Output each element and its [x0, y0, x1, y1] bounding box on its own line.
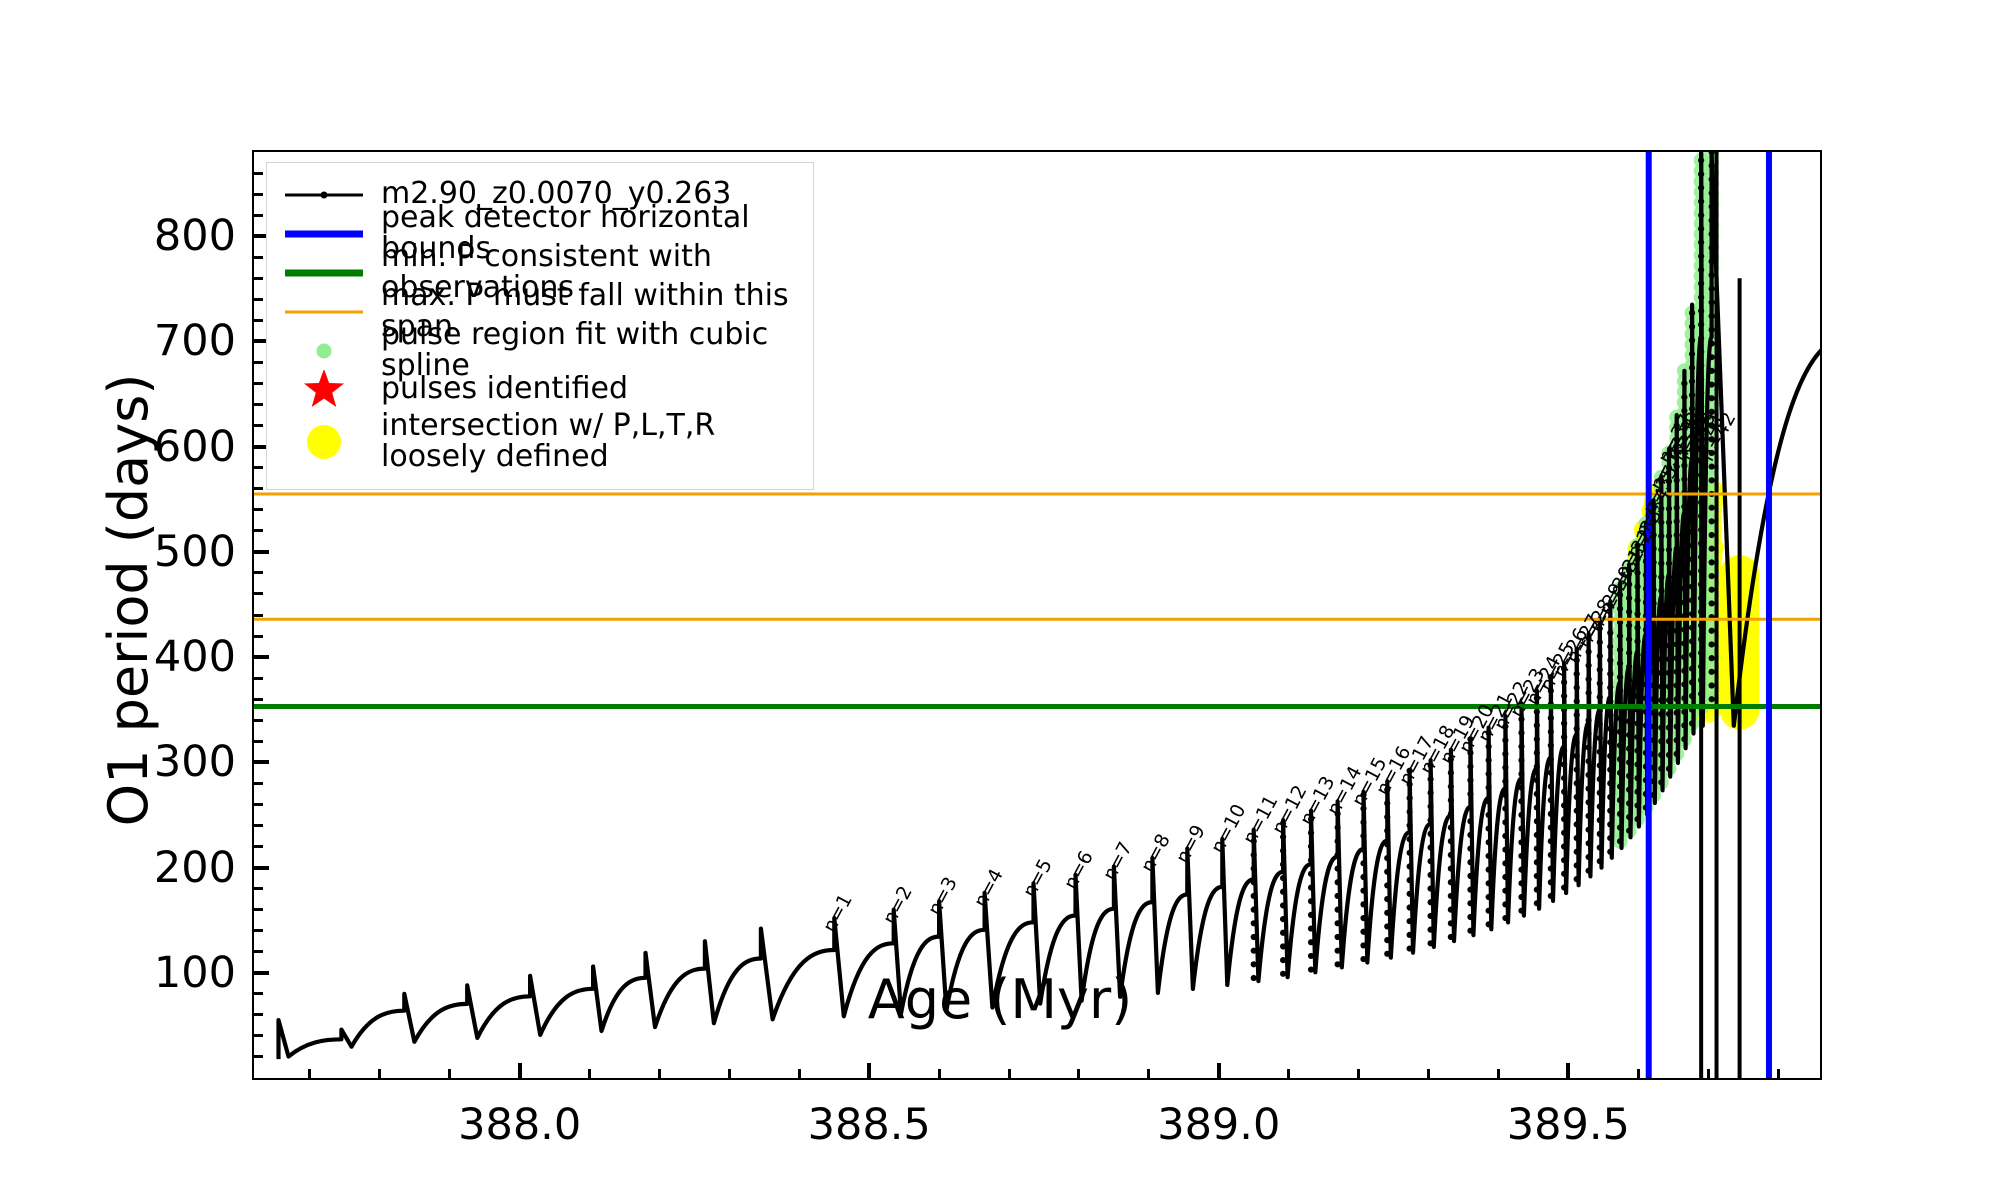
track-point [1607, 808, 1613, 814]
track-point [1534, 791, 1540, 797]
track-point [1709, 354, 1715, 360]
y-tick-label: 500 [154, 527, 236, 577]
track-point [1335, 865, 1341, 871]
y-tick-mark-minor [254, 1034, 263, 1037]
legend-item-label: intersection w/ P,L,T,R loosely defined [381, 411, 715, 473]
track-point [1689, 693, 1695, 699]
track-point [1681, 504, 1687, 510]
track-point [1689, 392, 1695, 398]
track-point [1674, 628, 1680, 634]
x-tick-label: 389.0 [1157, 1100, 1280, 1150]
track-point [1574, 671, 1580, 677]
x-tick-mark-minor [1637, 1069, 1640, 1078]
track-point [1681, 545, 1687, 551]
x-tick-mark-minor [728, 1069, 731, 1078]
track-point [1666, 519, 1672, 525]
y-tick-mark-minor [254, 592, 263, 595]
track-point [1607, 849, 1613, 855]
track-point [1709, 395, 1715, 401]
track-point [1548, 729, 1554, 735]
track-point [1502, 833, 1508, 839]
track-point [1626, 636, 1632, 642]
track-point [1597, 803, 1603, 809]
track-point [1502, 915, 1508, 921]
track-point [1626, 773, 1632, 779]
track-point [1448, 865, 1454, 871]
track-point [1360, 874, 1366, 880]
track-point [1709, 532, 1715, 538]
track-point [1518, 743, 1524, 749]
track-point [1617, 633, 1623, 639]
track-point [1360, 888, 1366, 894]
track-point [1280, 875, 1286, 881]
track-point [1689, 570, 1695, 576]
track-point [1607, 712, 1613, 718]
y-tick-mark-minor [254, 782, 263, 785]
track-point [1518, 894, 1524, 900]
track-point [1658, 752, 1664, 758]
chart-legend: m2.90_z0.0070_y0.263peak detector horizo… [266, 162, 814, 490]
track-point [1634, 802, 1640, 808]
track-point [1674, 737, 1680, 743]
track-point [1335, 838, 1341, 844]
track-point [1467, 887, 1473, 893]
track-point [1486, 757, 1492, 763]
track-point [1502, 806, 1508, 812]
track-point [1681, 599, 1687, 605]
track-point [1666, 697, 1672, 703]
track-point [1607, 671, 1613, 677]
track-point [1486, 908, 1492, 914]
track-point [1689, 611, 1695, 617]
track-point [1427, 790, 1433, 796]
track-point [1689, 638, 1695, 644]
track-point [1634, 748, 1640, 754]
y-tick-mark-minor [254, 908, 263, 911]
y-tick-mark-minor [254, 698, 263, 701]
y-tick-mark-minor [254, 614, 263, 617]
figure-canvas: 100200300400500600700800 388.0388.5389.0… [0, 0, 2000, 1200]
track-point [1251, 879, 1257, 885]
track-point [1518, 839, 1524, 845]
track-point [1360, 847, 1366, 853]
track-point [1486, 839, 1492, 845]
y-tick-mark-minor [254, 740, 263, 743]
track-point [1280, 916, 1286, 922]
track-point [1666, 752, 1672, 758]
y-tick-mark-minor [254, 487, 263, 490]
x-tick-mark [1566, 1063, 1570, 1078]
track-point [1486, 853, 1492, 859]
track-point [1681, 709, 1687, 715]
track-point [1617, 647, 1623, 653]
track-point [1666, 629, 1672, 635]
track-point [1427, 858, 1433, 864]
track-point [1448, 824, 1454, 830]
y-tick-mark-minor [254, 361, 263, 364]
track-point [1674, 587, 1680, 593]
track-point [1335, 961, 1341, 967]
track-point [1585, 813, 1591, 819]
x-tick-mark-minor [1497, 1069, 1500, 1078]
track-point [1502, 764, 1508, 770]
y-tick-mark-minor [254, 845, 263, 848]
track-point [1574, 726, 1580, 732]
track-point [1626, 663, 1632, 669]
legend-key-dot-icon [281, 331, 367, 370]
track-point [1534, 777, 1540, 783]
track-point [1561, 802, 1567, 808]
y-tick-mark-minor [254, 929, 263, 932]
track-point [1626, 677, 1632, 683]
x-tick-mark-minor [1427, 1069, 1430, 1078]
track-point [1502, 874, 1508, 880]
track-point [1709, 258, 1715, 264]
track-point [1280, 902, 1286, 908]
track-point [1308, 925, 1314, 931]
y-tick-mark-minor [254, 635, 263, 638]
y-tick-mark [254, 655, 269, 659]
track-point [1607, 726, 1613, 732]
track-point [1597, 667, 1603, 673]
track-point [1681, 627, 1687, 633]
track-point [1574, 876, 1580, 882]
track-point [1681, 476, 1687, 482]
track-point [1681, 572, 1687, 578]
track-point [1467, 818, 1473, 824]
track-point [1518, 853, 1524, 859]
track-point [1384, 869, 1390, 875]
track-point [1626, 718, 1632, 724]
track-point [1548, 865, 1554, 871]
track-point [1360, 901, 1366, 907]
track-point [1709, 176, 1715, 182]
track-point [1561, 761, 1567, 767]
track-point [1689, 310, 1695, 316]
track-point [1448, 934, 1454, 940]
track-point [1626, 800, 1632, 806]
track-point [1467, 777, 1473, 783]
track-point [1467, 928, 1473, 934]
track-point [1607, 780, 1613, 786]
x-tick-mark-minor [1008, 1069, 1011, 1078]
track-point [1407, 932, 1413, 938]
track-point [1666, 670, 1672, 676]
track-point [1607, 753, 1613, 759]
track-point [1634, 652, 1640, 658]
track-point [1597, 831, 1603, 837]
track-point [1335, 879, 1341, 885]
y-tick-mark-minor [254, 256, 263, 259]
y-tick-mark-minor [254, 719, 263, 722]
track-point [1518, 880, 1524, 886]
track-point [1626, 787, 1632, 793]
track-point [1585, 676, 1591, 682]
star-shape [304, 370, 344, 407]
y-tick-label: 700 [154, 316, 236, 366]
track-point [1407, 822, 1413, 828]
track-point [1658, 670, 1664, 676]
track-point [1626, 691, 1632, 697]
legend-item: intersection w/ P,L,T,R loosely defined [281, 409, 795, 475]
track-point [1709, 682, 1715, 688]
track-point [1607, 685, 1613, 691]
track-point [1666, 601, 1672, 607]
track-point [1486, 894, 1492, 900]
track-point [1534, 859, 1540, 865]
track-point [1486, 771, 1492, 777]
track-point [1518, 908, 1524, 914]
track-point [1427, 844, 1433, 850]
y-tick-mark-minor [254, 298, 263, 301]
track-point [1597, 721, 1603, 727]
track-point [1626, 650, 1632, 656]
track-point [1658, 697, 1664, 703]
track-point [1561, 843, 1567, 849]
track-point [1280, 943, 1286, 949]
track-point [1674, 641, 1680, 647]
track-point [1384, 814, 1390, 820]
track-point [1658, 588, 1664, 594]
track-point [1607, 835, 1613, 841]
track-point [1674, 696, 1680, 702]
track-point [1574, 739, 1580, 745]
track-point [1467, 873, 1473, 879]
y-tick-label: 800 [154, 211, 236, 261]
track-point [1534, 873, 1540, 879]
track-point [1634, 583, 1640, 589]
track-point [1689, 720, 1695, 726]
x-tick-mark-minor [378, 1069, 381, 1078]
track-point [1534, 750, 1540, 756]
track-point [1585, 717, 1591, 723]
track-point [1658, 766, 1664, 772]
track-point [1681, 668, 1687, 674]
track-point [1502, 792, 1508, 798]
track-point [1574, 753, 1580, 759]
track-point [1607, 821, 1613, 827]
track-point [1548, 811, 1554, 817]
track-point [1502, 778, 1508, 784]
x-tick-mark [518, 1063, 522, 1078]
track-point [1689, 652, 1695, 658]
track-point [1709, 340, 1715, 346]
track-point [1561, 775, 1567, 781]
x-tick-mark-minor [1707, 1069, 1710, 1078]
track-point [1384, 937, 1390, 943]
y-tick-mark-minor [254, 571, 263, 574]
track-point [1448, 838, 1454, 844]
track-point [1486, 812, 1492, 818]
track-point [1548, 770, 1554, 776]
y-tick-mark-minor [254, 950, 263, 953]
track-point [1626, 746, 1632, 752]
track-point [1335, 948, 1341, 954]
track-point [1597, 653, 1603, 659]
track-point [1448, 852, 1454, 858]
track-point [1626, 732, 1632, 738]
track-point [1674, 682, 1680, 688]
track-point [1585, 868, 1591, 874]
track-point [1486, 921, 1492, 927]
track-point [1561, 884, 1567, 890]
track-point [1502, 860, 1508, 866]
track-point [1617, 783, 1623, 789]
y-tick-mark-minor [254, 824, 263, 827]
y-tick-mark-minor [254, 508, 263, 511]
track-point [1574, 780, 1580, 786]
track-point [1689, 542, 1695, 548]
track-point [1427, 899, 1433, 905]
track-point [1709, 231, 1715, 237]
x-tick-mark [1217, 1063, 1221, 1078]
track-point [1467, 804, 1473, 810]
x-tick-mark-minor [938, 1069, 941, 1078]
y-tick-mark-minor [254, 529, 263, 532]
track-point [1384, 896, 1390, 902]
track-point [1607, 630, 1613, 636]
track-point [1448, 893, 1454, 899]
track-point [1666, 642, 1672, 648]
track-point [1407, 945, 1413, 951]
track-point [1607, 794, 1613, 800]
track-point [1335, 852, 1341, 858]
track-point [1689, 474, 1695, 480]
track-point [1448, 811, 1454, 817]
track-point [1427, 927, 1433, 933]
track-point [1674, 518, 1680, 524]
track-point [1634, 734, 1640, 740]
track-point [1626, 622, 1632, 628]
track-point [1709, 327, 1715, 333]
track-point [1251, 934, 1257, 940]
y-tick-mark-minor [254, 193, 263, 196]
track-point [1709, 518, 1715, 524]
legend-line-icon [285, 230, 363, 237]
track-point [1574, 862, 1580, 868]
track-point [1681, 681, 1687, 687]
x-axis-label: Age (Myr) [0, 968, 2000, 1031]
track-point [1534, 832, 1540, 838]
track-point [1674, 532, 1680, 538]
track-point [1548, 783, 1554, 789]
track-point [1467, 832, 1473, 838]
track-point [1448, 797, 1454, 803]
track-point [1634, 775, 1640, 781]
track-point [1709, 204, 1715, 210]
track-point [1561, 871, 1567, 877]
track-point [1709, 299, 1715, 305]
track-point [1597, 858, 1603, 864]
track-point [1518, 812, 1524, 818]
track-point [1658, 724, 1664, 730]
track-point [1585, 827, 1591, 833]
y-tick-mark-minor [254, 466, 263, 469]
track-point [1467, 859, 1473, 865]
track-point [1689, 666, 1695, 672]
track-point [1561, 816, 1567, 822]
track-point [1674, 751, 1680, 757]
track-point [1597, 735, 1603, 741]
track-point [1681, 380, 1687, 386]
track-point [1689, 337, 1695, 343]
track-point [1597, 694, 1603, 700]
track-point [1681, 531, 1687, 537]
track-point [1448, 879, 1454, 885]
legend-key-star-icon [281, 370, 367, 409]
track-point [1561, 857, 1567, 863]
track-point [1561, 720, 1567, 726]
track-point [1534, 818, 1540, 824]
x-tick-mark-minor [308, 1069, 311, 1078]
track-point [1709, 381, 1715, 387]
track-point [1681, 394, 1687, 400]
track-point [1674, 559, 1680, 565]
track-point [1280, 889, 1286, 895]
track-point [1709, 313, 1715, 319]
track-point [1486, 826, 1492, 832]
track-point [1666, 533, 1672, 539]
track-point [1384, 800, 1390, 806]
track-point [1634, 597, 1640, 603]
track-point [1681, 586, 1687, 592]
track-point [1597, 749, 1603, 755]
track-point [1427, 913, 1433, 919]
track-point [1486, 880, 1492, 886]
track-point [1674, 546, 1680, 552]
track-point [1617, 756, 1623, 762]
track-point [1666, 588, 1672, 594]
track-point [1709, 559, 1715, 565]
track-point [1709, 573, 1715, 579]
y-tick-mark-minor [254, 277, 263, 280]
track-point [1658, 642, 1664, 648]
x-tick-mark-minor [448, 1069, 451, 1078]
track-point [1534, 804, 1540, 810]
track-point [1502, 819, 1508, 825]
track-point [1689, 529, 1695, 535]
legend-key-line-thin-icon [281, 292, 367, 331]
track-point [1308, 898, 1314, 904]
track-point [1626, 759, 1632, 765]
track-point [1467, 791, 1473, 797]
y-tick-label: 200 [154, 843, 236, 893]
track-point [1407, 863, 1413, 869]
track-point [1709, 669, 1715, 675]
track-point [1548, 756, 1554, 762]
track-point [1251, 893, 1257, 899]
track-point [1689, 625, 1695, 631]
track-point [1674, 655, 1680, 661]
track-point [1634, 666, 1640, 672]
track-point [1658, 738, 1664, 744]
y-tick-label: 400 [154, 632, 236, 682]
track-point [1658, 779, 1664, 785]
track-point [1674, 723, 1680, 729]
track-point [1689, 583, 1695, 589]
track-point [1666, 711, 1672, 717]
track-point [1681, 736, 1687, 742]
track-point [1518, 730, 1524, 736]
track-point [1518, 826, 1524, 832]
track-point [1407, 850, 1413, 856]
track-point [1634, 638, 1640, 644]
track-point [1658, 574, 1664, 580]
track-point [1709, 655, 1715, 661]
x-tick-mark-minor [1147, 1069, 1150, 1078]
track-point [1518, 757, 1524, 763]
track-point [1407, 918, 1413, 924]
